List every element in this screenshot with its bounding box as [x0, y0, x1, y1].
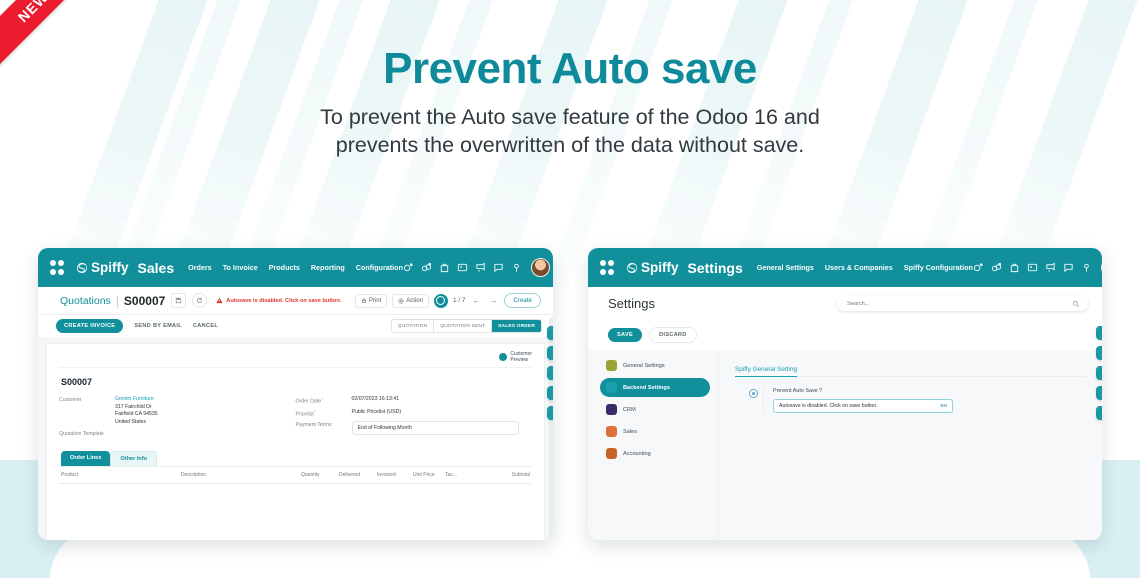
megaphone-icon[interactable] — [475, 262, 486, 273]
order-date-value[interactable]: 02/07/2023 16:13:41 — [352, 396, 400, 405]
settings-sidebar: General Settings Backend Settings CRM Sa… — [588, 350, 719, 540]
grid-icon[interactable] — [457, 262, 468, 273]
cancel-button[interactable]: CANCEL — [193, 323, 218, 329]
sales-window: Spiffy Sales Orders To Invoice Products … — [38, 248, 553, 540]
language-badge[interactable]: EN — [940, 404, 947, 409]
megaphone-icon[interactable] — [1045, 262, 1056, 273]
sidebar-label: Sales — [623, 429, 637, 435]
create-invoice-button[interactable]: CREATE INVOICE — [56, 319, 123, 333]
form-grid: Customer Gemini Furniture 317 Fairchild … — [59, 396, 532, 441]
bag-icon[interactable] — [439, 262, 450, 273]
messaging-icon[interactable] — [973, 262, 984, 273]
customer-preview-button[interactable]: Customer Preview — [499, 351, 532, 363]
control-panel-breadcrumb: Quotations | S00007 Autosave is disabled… — [38, 287, 553, 314]
prevent-auto-save-label: Prevent Auto Save ? — [773, 388, 1086, 394]
page-subtitle: To prevent the Auto save feature of the … — [0, 103, 1140, 159]
status-circle-button[interactable] — [434, 294, 448, 308]
settings-body: General Settings Backend Settings CRM Sa… — [588, 350, 1102, 540]
col-quantity: Quantity — [301, 472, 339, 478]
quotation-template-field: Quotation Template — [59, 430, 296, 437]
record-statusbar: QUOTATION QUOTATION SENT SALES ORDER — [391, 319, 542, 333]
customer-value[interactable]: Gemini Furniture — [115, 396, 158, 404]
sales-icon — [606, 426, 617, 437]
grid-icon[interactable] — [1027, 262, 1038, 273]
status-quotation-sent[interactable]: QUOTATION SENT — [434, 320, 492, 332]
app-name: Sales — [138, 260, 175, 276]
bag-icon[interactable] — [1009, 262, 1020, 273]
sidebar-item-accounting[interactable]: Accounting — [600, 444, 710, 463]
col-delivered: Delivered — [339, 472, 377, 478]
quotation-template-label: Quotation Template — [59, 430, 115, 437]
form-column-right: Order Date? 02/07/2023 16:13:41 Pricelis… — [296, 396, 533, 441]
globe-icon — [499, 353, 507, 361]
settings-navbar: Spiffy Settings General Settings Users &… — [588, 248, 1102, 287]
discard-icon[interactable] — [192, 293, 207, 308]
print-label: Print — [369, 298, 381, 304]
autosave-message-value: Autosave is disabled. Click on save butt… — [779, 403, 940, 409]
settings-window: Spiffy Settings General Settings Users &… — [588, 248, 1102, 540]
action-button[interactable]: Action — [392, 294, 429, 308]
autosave-message-input[interactable]: Autosave is disabled. Click on save butt… — [773, 399, 953, 413]
search-icon[interactable] — [547, 346, 553, 360]
pricelist-value[interactable]: Public Pricelist (USD) — [352, 409, 402, 418]
order-date-field: Order Date? 02/07/2023 16:13:41 — [296, 396, 533, 405]
search-input[interactable] — [845, 300, 1072, 308]
brand-logo[interactable]: Spiffy — [626, 260, 679, 275]
customer-address-line3: United States — [115, 419, 158, 427]
zoom-icon[interactable] — [547, 386, 553, 400]
sidebar-item-sales[interactable]: Sales — [600, 422, 710, 441]
discard-button[interactable]: DISCARD — [649, 327, 697, 343]
sidebar-label: General Settings — [623, 363, 665, 369]
activity-icon[interactable] — [421, 262, 432, 273]
navbar-systray — [973, 258, 1102, 277]
pager-next-button[interactable]: → — [487, 296, 499, 305]
control-panel-actions: Print Action 1 / 7 ← → Create — [355, 293, 541, 308]
col-unit-price: Unit Price — [413, 472, 445, 478]
pricelist-label: Pricelist — [296, 411, 314, 417]
payment-terms-field: Payment Terms End of Following Month — [296, 421, 533, 435]
brand-name: Spiffy — [91, 260, 129, 275]
sidebar-item-crm[interactable]: CRM — [600, 400, 710, 419]
bookmark-icon[interactable] — [1096, 406, 1102, 420]
apps-grid-icon[interactable] — [50, 260, 64, 275]
record-title: S00007 — [61, 377, 532, 387]
pin-icon[interactable] — [1081, 262, 1092, 273]
breadcrumb-parent[interactable]: Quotations — [60, 295, 111, 307]
accounting-icon — [606, 448, 617, 459]
messaging-icon[interactable] — [403, 262, 414, 273]
expand-icon[interactable] — [547, 366, 553, 380]
avatar[interactable] — [1101, 258, 1102, 277]
app-name: Settings — [688, 260, 743, 276]
pager-count: 1 / 7 — [453, 297, 465, 304]
prevent-auto-save-checkbox[interactable] — [749, 389, 758, 398]
menu-item-general-settings[interactable]: General Settings — [757, 263, 814, 272]
spiffy-swirl-icon — [76, 262, 88, 274]
search-box[interactable] — [837, 296, 1088, 311]
notebook-tabs: Order Lines Other Info — [61, 451, 532, 466]
expand-icon[interactable] — [1096, 366, 1102, 380]
settings-menu: General Settings Users & Companies Spiff… — [757, 263, 973, 272]
sales-navbar: Spiffy Sales Orders To Invoice Products … — [38, 248, 553, 287]
subtitle-line-2: prevents the overwritten of the data wit… — [0, 131, 1140, 159]
brand-name: Spiffy — [641, 260, 679, 275]
customer-field: Customer Gemini Furniture 317 Fairchild … — [59, 396, 296, 426]
star-icon[interactable] — [547, 326, 553, 340]
sidebar-item-backend-settings[interactable]: Backend Settings — [600, 378, 710, 397]
chat-icon[interactable] — [493, 262, 504, 273]
status-sales-order[interactable]: SALES ORDER — [492, 320, 541, 332]
menu-item-configuration[interactable]: Configuration — [356, 263, 403, 272]
order-date-label: Order Date — [296, 399, 322, 405]
customer-preview-line2: Preview — [510, 357, 532, 363]
subtitle-line-1: To prevent the Auto save feature of the … — [0, 103, 1140, 131]
tab-other-info[interactable]: Other Info — [110, 451, 157, 466]
brand-logo[interactable]: Spiffy — [76, 260, 129, 275]
col-invoiced: Invoiced — [377, 472, 413, 478]
payment-terms-input[interactable]: End of Following Month — [352, 421, 519, 435]
save-button[interactable]: SAVE — [608, 328, 642, 342]
breadcrumb-current: S00007 — [124, 294, 165, 308]
col-product: Product — [61, 472, 181, 478]
navbar-systray — [403, 258, 550, 277]
pager-prev-button[interactable]: ← — [470, 296, 482, 305]
settings-header: Settings — [588, 287, 1102, 320]
right-floating-toolbar — [1096, 326, 1102, 420]
apps-grid-icon[interactable] — [600, 260, 614, 275]
bookmark-icon[interactable] — [547, 406, 553, 420]
autosave-warning-text: Autosave is disabled. Click on save butt… — [226, 298, 341, 304]
action-label: Action — [406, 298, 423, 304]
form-sheet-wrapper: Customer Preview S00007 Customer Gemini … — [38, 337, 553, 540]
form-sheet: Customer Preview S00007 Customer Gemini … — [46, 343, 545, 540]
customer-address-line1: 317 Fairchild Dr — [115, 404, 158, 412]
required-marker: ? — [314, 410, 316, 414]
settings-page-title: Settings — [608, 296, 655, 311]
smart-buttons: Customer Preview — [59, 351, 532, 368]
payment-terms-label: Payment Terms — [296, 421, 352, 435]
menu-item-products[interactable]: Products — [269, 263, 300, 272]
menu-item-reporting[interactable]: Reporting — [311, 263, 345, 272]
tab-order-lines[interactable]: Order Lines — [61, 451, 110, 466]
sales-menu: Orders To Invoice Products Reporting Con… — [188, 263, 403, 272]
menu-item-orders[interactable]: Orders — [188, 263, 212, 272]
page-title: Prevent Auto save — [0, 44, 1140, 94]
status-quotation[interactable]: QUOTATION — [392, 320, 435, 332]
pricelist-field: Pricelist? Public Pricelist (USD) — [296, 409, 533, 418]
settings-action-bar: SAVE DISCARD — [588, 320, 1102, 350]
menu-item-users-companies[interactable]: Users & Companies — [825, 263, 893, 272]
printer-icon — [361, 298, 367, 304]
backend-settings-icon — [606, 382, 617, 393]
zoom-icon[interactable] — [1096, 386, 1102, 400]
settings-main-panel: Spiffy General Setting Prevent Auto Save… — [719, 350, 1102, 540]
warning-icon — [216, 297, 223, 304]
general-settings-icon — [606, 360, 617, 371]
required-marker: ? — [321, 397, 323, 401]
section-tab-spiffy-general-setting[interactable]: Spiffy General Setting — [735, 366, 797, 377]
breadcrumb-separator: | — [116, 294, 119, 308]
sidebar-label: CRM — [623, 407, 636, 413]
chat-icon[interactable] — [1063, 262, 1074, 273]
sidebar-label: Backend Settings — [623, 385, 670, 391]
form-column-left: Customer Gemini Furniture 317 Fairchild … — [59, 396, 296, 441]
prevent-auto-save-setting: Prevent Auto Save ? Autosave is disabled… — [735, 388, 1086, 413]
autosave-warning: Autosave is disabled. Click on save butt… — [216, 297, 341, 304]
search-icon[interactable] — [1096, 346, 1102, 360]
left-floating-toolbar — [547, 326, 553, 420]
print-button[interactable]: Print — [355, 294, 387, 308]
send-by-email-button[interactable]: SEND BY EMAIL — [134, 323, 182, 329]
avatar[interactable] — [531, 258, 550, 277]
col-tax: Tax... — [445, 472, 479, 478]
sidebar-label: Accounting — [623, 451, 651, 457]
search-icon[interactable] — [1072, 300, 1080, 308]
col-description: Description — [181, 472, 301, 478]
customer-address-line2: Fairfield CA 94535 — [115, 411, 158, 419]
crm-icon — [606, 404, 617, 415]
record-action-bar: CREATE INVOICE SEND BY EMAIL CANCEL QUOT… — [38, 314, 553, 337]
pin-icon[interactable] — [511, 262, 522, 273]
menu-item-to-invoice[interactable]: To Invoice — [223, 263, 258, 272]
menu-item-spiffy-configuration[interactable]: Spiffy Configuration — [904, 263, 973, 272]
activity-icon[interactable] — [991, 262, 1002, 273]
customer-label: Customer — [59, 396, 115, 426]
order-lines-table-header: Product Description Quantity Delivered I… — [59, 466, 532, 484]
col-subtotal: Subtotal — [479, 472, 530, 478]
sidebar-item-general-settings[interactable]: General Settings — [600, 356, 710, 375]
save-icon[interactable] — [171, 293, 186, 308]
spiffy-swirl-icon — [626, 262, 638, 274]
gear-icon — [398, 298, 404, 304]
create-button[interactable]: Create — [504, 293, 541, 308]
star-icon[interactable] — [1096, 326, 1102, 340]
